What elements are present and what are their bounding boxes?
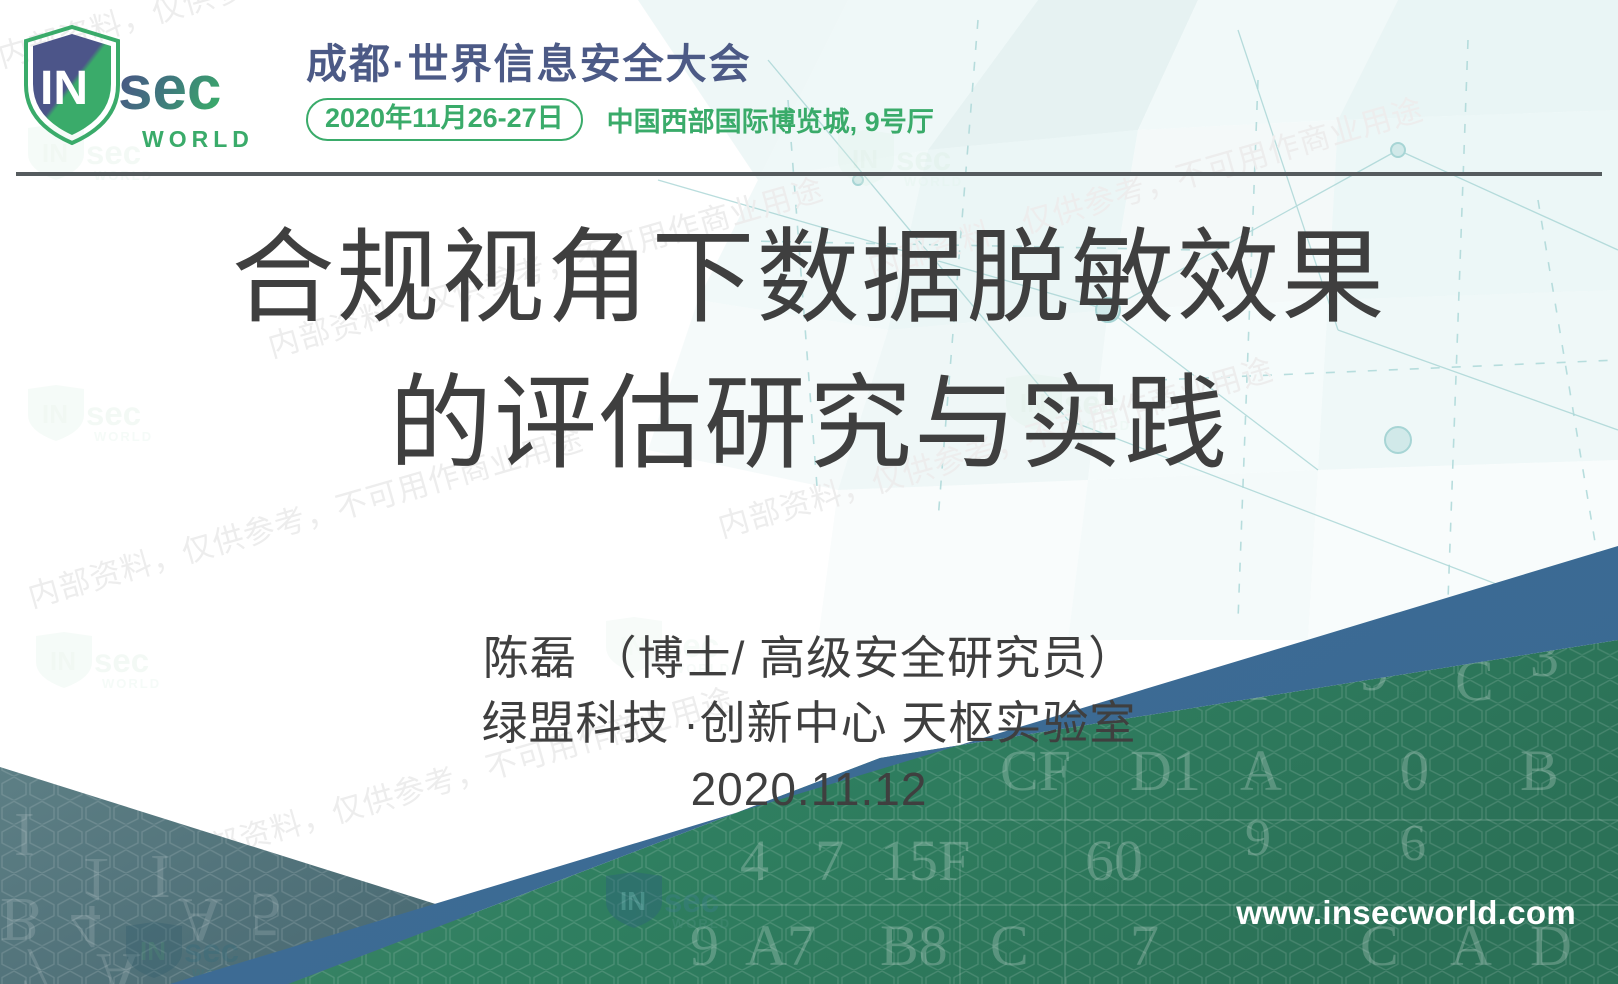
website-url[interactable]: www.insecworld.com [1236,894,1576,932]
slide-header: IN sec WORLD 成都·世界信息安全大会 2020年11月26-27日 … [0,0,1618,172]
svg-text:WORLD: WORLD [904,174,963,189]
svg-text:60: 60 [1085,828,1143,893]
svg-text:9: 9 [690,913,719,978]
svg-text:4: 4 [740,828,769,893]
conference-venue: 中国西部国际博览城, 9号厅 [607,100,934,139]
presentation-date: 2020.11.12 [0,757,1618,822]
page-title: 合规视角下数据脱敏效果 的评估研究与实践 [0,205,1618,498]
header-divider [16,172,1602,176]
svg-text:D: D [200,970,245,984]
svg-text:IN: IN [140,936,166,966]
svg-text:C: C [290,930,331,984]
svg-text:N: N [470,970,515,984]
svg-text:WORLD: WORLD [672,916,731,931]
svg-text:A: A [96,940,141,984]
svg-text:9: 9 [350,940,381,984]
svg-text:7: 7 [20,935,51,984]
svg-text:I: I [150,842,171,910]
svg-text:sec: sec [664,882,719,919]
svg-text:B: B [0,885,41,953]
logo-in-text: IN [40,62,88,115]
svg-text:A: A [430,950,475,984]
svg-text:B8: B8 [880,913,948,978]
svg-text:4: 4 [70,892,101,960]
logo-sec-text: sec [118,54,221,123]
svg-text:15F: 15F [880,828,970,893]
author-block: 陈磊 （博士/ 高级安全研究员） 绿盟科技 ·创新中心 天枢实验室 2020.1… [0,626,1618,822]
svg-text:A7: A7 [745,913,816,978]
svg-text:7: 7 [815,828,844,893]
page-title-line-1: 合规视角下数据脱敏效果 [0,205,1618,351]
conference-subinfo: 2020年11月26-27日 中国西部国际博览城, 9号厅 [306,98,934,141]
insec-world-logo: IN sec WORLD [14,19,276,159]
svg-text:7: 7 [1130,913,1159,978]
author-name: 陈磊 （博士/ 高级安全研究员） [0,626,1618,691]
svg-text:WORLD: WORLD [192,966,251,981]
svg-text:sec: sec [184,932,239,969]
logo-svg: IN sec WORLD [14,19,276,159]
svg-text:1: 1 [80,845,111,913]
logo-world-text: WORLD [142,126,254,152]
conference-title: 成都·世界信息安全大会 [306,43,934,86]
svg-text:S: S [120,980,154,984]
author-affiliation: 绿盟科技 ·创新中心 天枢实验室 [0,691,1618,756]
svg-text:A: A [178,885,223,953]
svg-text:6: 6 [1400,815,1426,872]
header-text-block: 成都·世界信息安全大会 2020年11月26-27日 中国西部国际博览城, 9号… [306,43,934,140]
svg-text:C: C [990,913,1029,978]
page-title-line-2: 的评估研究与实践 [0,351,1618,497]
svg-text:5: 5 [250,880,281,948]
conference-date-badge: 2020年11月26-27日 [306,98,583,141]
svg-text:IN: IN [620,886,646,916]
presentation-slide: IN sec WORLD IN sec WORLD IN sec WORLD [0,0,1618,984]
